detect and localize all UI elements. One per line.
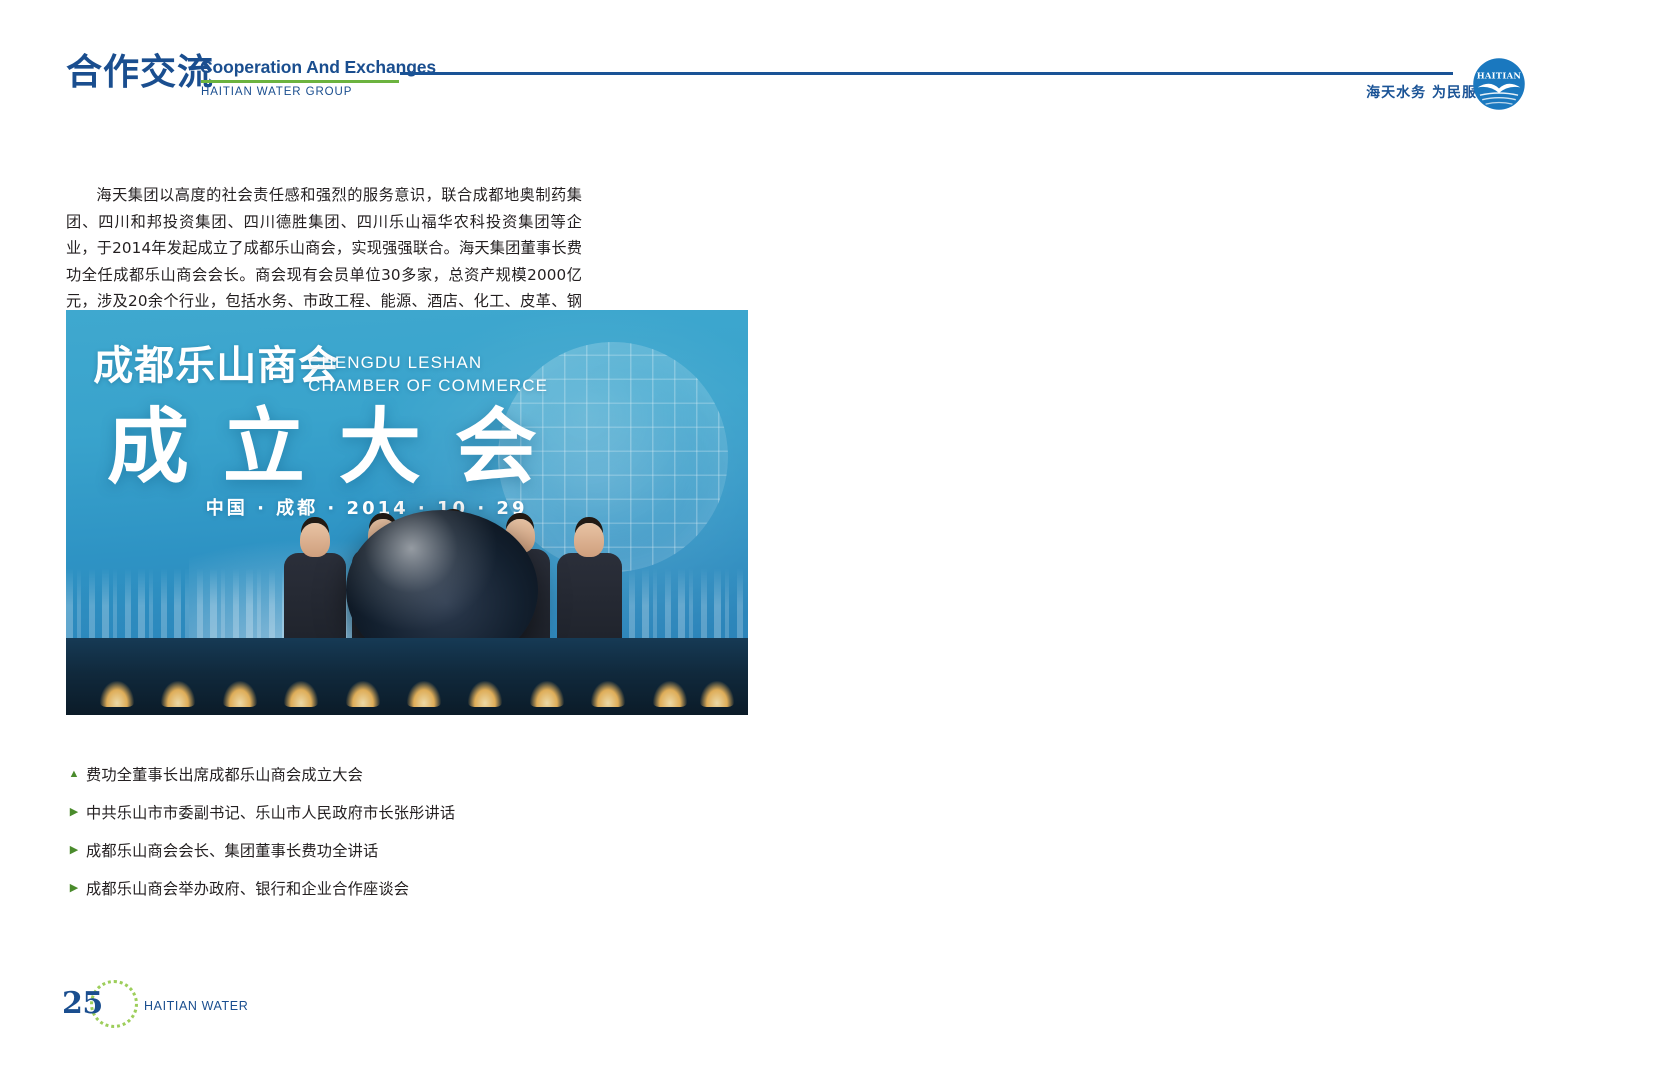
- banner-headline: 成立大会: [107, 407, 571, 489]
- list-item: ▶ 中共乐山市市委副书记、乐山市人民政府市长张彤讲话: [62, 795, 662, 829]
- banner-title-cn: 成都乐山商会: [93, 346, 339, 386]
- triangle-right-icon: ▶: [62, 807, 86, 818]
- list-item: ▲ 费功全董事长出席成都乐山商会成立大会: [62, 757, 662, 791]
- right-page: 成都乐山商会 CHENGDU LESHAN CHAMBER OF COMMERC…: [838, 0, 1677, 1086]
- triangle-up-icon: ▲: [62, 769, 86, 780]
- page-number: 25: [62, 986, 103, 1021]
- caption-text: 成都乐山商会会长、集团董事长费功全讲话: [86, 839, 378, 861]
- list-item: ▶ 成都乐山商会会长、集团董事长费功全讲话: [62, 833, 662, 867]
- left-page: 海天集团以高度的社会责任感和强烈的服务意识，联合成都地奥制药集团、四川和邦投资集…: [0, 0, 838, 1086]
- banner-en-line1: CHENGDU LESHAN: [308, 352, 548, 374]
- magazine-spread: 合作交流 Cooperation And Exchanges HAITIAN W…: [0, 0, 1677, 1086]
- stage-lights: [66, 654, 748, 707]
- caption-text: 费功全董事长出席成都乐山商会成立大会: [86, 763, 363, 785]
- footer-left: 25 HAITIAN WATER: [62, 980, 312, 1032]
- caption-list: ▲ 费功全董事长出席成都乐山商会成立大会 ▶ 中共乐山市市委副书记、乐山市人民政…: [62, 757, 662, 909]
- photo-founding-ceremony: 成都乐山商会 CHENGDU LESHAN CHAMBER OF COMMERC…: [66, 310, 748, 715]
- triangle-right-icon: ▶: [62, 883, 86, 894]
- caption-text: 成都乐山商会举办政府、银行和企业合作座谈会: [86, 877, 409, 899]
- list-item: ▶ 成都乐山商会举办政府、银行和企业合作座谈会: [62, 871, 662, 905]
- banner-en-line2: CHAMBER OF COMMERCE: [308, 375, 548, 397]
- banner-title-en: CHENGDU LESHAN CHAMBER OF COMMERCE: [308, 352, 548, 397]
- caption-text: 中共乐山市市委副书记、乐山市人民政府市长张彤讲话: [86, 801, 455, 823]
- footer-brand: HAITIAN WATER: [144, 999, 248, 1013]
- triangle-right-icon: ▶: [62, 845, 86, 856]
